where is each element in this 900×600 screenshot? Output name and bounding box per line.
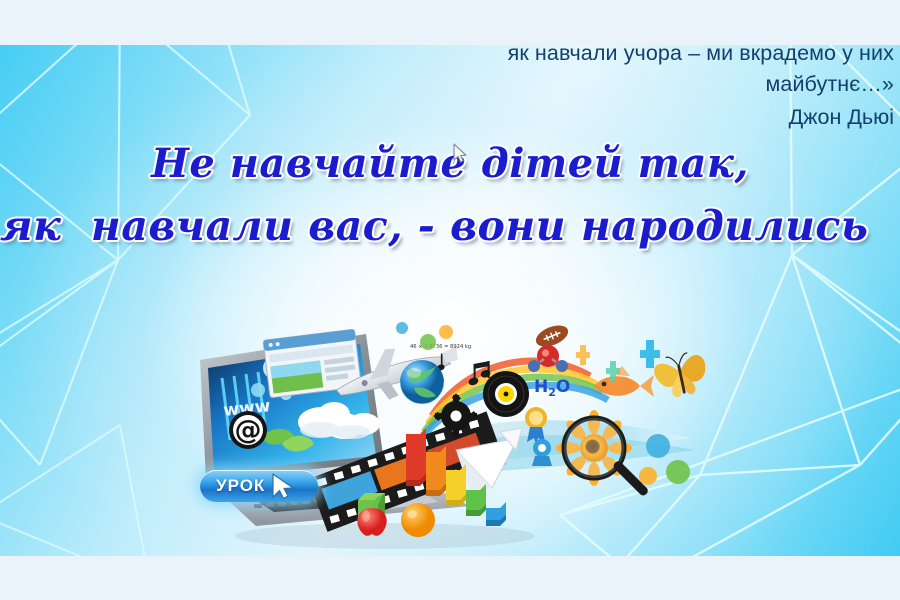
education-laptop-illustration: www bbox=[170, 320, 750, 555]
svg-text:@: @ bbox=[235, 415, 262, 446]
urok-badge[interactable]: УРОК bbox=[200, 470, 318, 502]
quote-line-3: майбутнє…» bbox=[334, 69, 894, 100]
presentation-slide: www bbox=[0, 0, 900, 600]
quote-author: Джон Дьюі bbox=[334, 102, 894, 133]
slide-top-band bbox=[0, 0, 900, 45]
formula-text: 46 × 1.9736 = 8924 kg bbox=[410, 344, 471, 350]
urok-badge-label: УРОК bbox=[216, 476, 265, 496]
cursor-arrow-icon bbox=[267, 471, 301, 501]
slide-bottom-band bbox=[0, 556, 900, 600]
mouse-pointer-icon bbox=[452, 143, 468, 165]
